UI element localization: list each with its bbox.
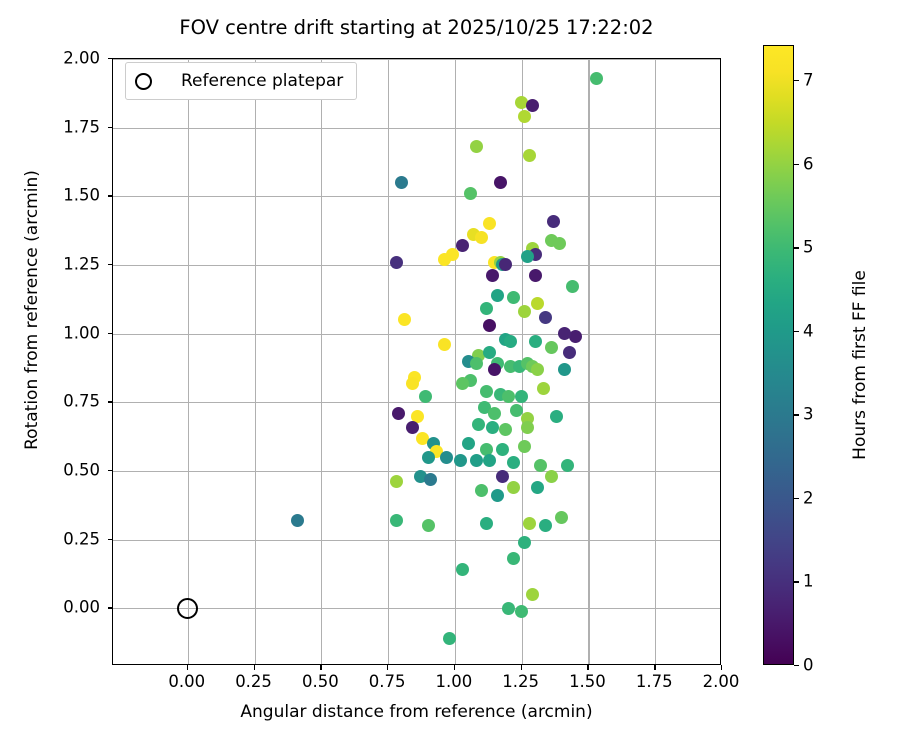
scatter-point xyxy=(398,313,411,326)
scatter-point xyxy=(550,410,563,423)
scatter-point xyxy=(537,382,550,395)
scatter-point xyxy=(438,253,451,266)
x-tick xyxy=(320,665,321,670)
scatter-point xyxy=(494,176,507,189)
scatter-point xyxy=(558,327,571,340)
scatter-point xyxy=(480,517,493,530)
x-tick xyxy=(254,665,255,670)
y-tick-label: 1.75 xyxy=(0,117,100,136)
scatter-point xyxy=(475,231,488,244)
scatter-point xyxy=(464,187,477,200)
y-tick xyxy=(108,58,113,59)
scatter-point xyxy=(483,454,496,467)
scatter-point xyxy=(523,149,536,162)
x-axis-label: Angular distance from reference (arcmin) xyxy=(112,702,721,722)
legend-label: Reference platepar xyxy=(181,71,343,91)
scatter-point xyxy=(502,602,515,615)
colorbar-tick-label: 4 xyxy=(803,321,814,340)
scatter-point xyxy=(531,297,544,310)
scatter-point xyxy=(521,250,534,263)
x-tick-label: 0.75 xyxy=(369,672,406,691)
colorbar-tick-label: 2 xyxy=(803,488,814,507)
y-tick-label: 0.25 xyxy=(0,529,100,548)
scatter-point xyxy=(529,335,542,348)
scatter-point xyxy=(553,237,566,250)
y-tick xyxy=(108,607,113,608)
scatter-point xyxy=(392,407,405,420)
scatter-point xyxy=(422,519,435,532)
scatter-point xyxy=(590,72,603,85)
scatter-point xyxy=(438,338,451,351)
colorbar-tick-label: 1 xyxy=(803,572,814,591)
x-tick-label: 1.75 xyxy=(636,672,673,691)
x-tick-label: 1.50 xyxy=(569,672,606,691)
reference-platepar-point xyxy=(177,598,198,619)
scatter-point xyxy=(456,377,469,390)
y-tick-label: 0.50 xyxy=(0,460,100,479)
colorbar-tick xyxy=(794,665,799,666)
scatter-point xyxy=(526,588,539,601)
x-tick xyxy=(454,665,455,670)
x-tick xyxy=(587,665,588,670)
scatter-point xyxy=(507,291,520,304)
scatter-point xyxy=(507,481,520,494)
colorbar-tick xyxy=(794,331,799,332)
scatter-point xyxy=(521,421,534,434)
scatter-point xyxy=(456,239,469,252)
scatter-point xyxy=(422,451,435,464)
x-tick xyxy=(387,665,388,670)
colorbar-tick-label: 5 xyxy=(803,238,814,257)
scatter-point xyxy=(488,407,501,420)
x-tick-label: 0.00 xyxy=(168,672,205,691)
scatter-point xyxy=(545,470,558,483)
x-tick-label: 0.50 xyxy=(302,672,339,691)
scatter-point xyxy=(488,363,501,376)
scatter-point xyxy=(518,305,531,318)
y-tick xyxy=(108,401,113,402)
scatter-point xyxy=(561,459,574,472)
scatter-point xyxy=(545,341,558,354)
scatter-point xyxy=(390,256,403,269)
gridline-horizontal xyxy=(113,402,720,403)
scatter-point xyxy=(486,269,499,282)
scatter-point xyxy=(491,289,504,302)
colorbar-tick xyxy=(794,80,799,81)
y-tick xyxy=(108,264,113,265)
gridline-vertical xyxy=(255,59,256,664)
gridline-horizontal xyxy=(113,334,720,335)
reference-platepar-marker-icon xyxy=(135,73,152,90)
scatter-point xyxy=(539,519,552,532)
scatter-point xyxy=(480,302,493,315)
gridline-vertical xyxy=(388,59,389,664)
scatter-point xyxy=(456,563,469,576)
plot-clip xyxy=(113,59,720,664)
y-tick-label: 1.00 xyxy=(0,323,100,342)
scatter-point xyxy=(496,443,509,456)
colorbar-tick xyxy=(794,581,799,582)
scatter-point xyxy=(480,385,493,398)
gridline-vertical xyxy=(321,59,322,664)
scatter-point xyxy=(555,511,568,524)
figure: FOV centre drift starting at 2025/10/25 … xyxy=(0,0,900,750)
y-tick-label: 0.00 xyxy=(0,598,100,617)
scatter-point xyxy=(483,319,496,332)
scatter-point xyxy=(518,110,531,123)
gridline-horizontal xyxy=(113,59,720,60)
scatter-point xyxy=(566,280,579,293)
colorbar-tick-label: 0 xyxy=(803,656,814,675)
scatter-point xyxy=(406,421,419,434)
colorbar-tick-label: 3 xyxy=(803,405,814,424)
legend: Reference platepar xyxy=(125,62,357,100)
scatter-point xyxy=(539,311,552,324)
scatter-point xyxy=(534,459,547,472)
scatter-point xyxy=(470,357,483,370)
gridline-horizontal xyxy=(113,608,720,609)
colorbar-tick-label: 7 xyxy=(803,71,814,90)
y-tick-label: 1.50 xyxy=(0,186,100,205)
scatter-point xyxy=(518,440,531,453)
y-tick xyxy=(108,333,113,334)
x-tick-label: 2.00 xyxy=(703,672,740,691)
scatter-point xyxy=(518,536,531,549)
scatter-point xyxy=(475,484,488,497)
colorbar-tick xyxy=(794,164,799,165)
gridline-horizontal xyxy=(113,196,720,197)
gridline-vertical xyxy=(655,59,656,664)
y-tick-label: 1.25 xyxy=(0,254,100,273)
x-tick xyxy=(654,665,655,670)
scatter-point xyxy=(529,269,542,282)
colorbar-tick xyxy=(794,247,799,248)
scatter-point xyxy=(291,514,304,527)
y-tick xyxy=(108,195,113,196)
scatter-point xyxy=(483,217,496,230)
y-tick-label: 0.75 xyxy=(0,392,100,411)
scatter-point xyxy=(443,632,456,645)
y-tick-label: 2.00 xyxy=(0,49,100,68)
scatter-point xyxy=(470,454,483,467)
gridline-horizontal xyxy=(113,540,720,541)
x-tick-label: 1.00 xyxy=(436,672,473,691)
scatter-point xyxy=(491,489,504,502)
x-tick xyxy=(721,665,722,670)
scatter-point xyxy=(504,335,517,348)
plot-area xyxy=(112,58,721,665)
scatter-point xyxy=(454,454,467,467)
x-tick-label: 0.25 xyxy=(235,672,272,691)
scatter-point xyxy=(440,451,453,464)
scatter-point xyxy=(395,176,408,189)
scatter-point xyxy=(507,552,520,565)
scatter-point xyxy=(563,346,576,359)
chart-title: FOV centre drift starting at 2025/10/25 … xyxy=(112,16,721,39)
gridline-horizontal xyxy=(113,128,720,129)
scatter-point xyxy=(472,418,485,431)
y-tick xyxy=(108,127,113,128)
scatter-point xyxy=(470,140,483,153)
scatter-point xyxy=(547,215,560,228)
scatter-point xyxy=(424,473,437,486)
scatter-point xyxy=(515,605,528,618)
scatter-point xyxy=(558,363,571,376)
scatter-point xyxy=(499,258,512,271)
colorbar-tick-label: 6 xyxy=(803,154,814,173)
scatter-point xyxy=(462,437,475,450)
colorbar-tick xyxy=(794,414,799,415)
scatter-point xyxy=(390,514,403,527)
y-tick xyxy=(108,539,113,540)
gridline-horizontal xyxy=(113,265,720,266)
gridline-vertical xyxy=(455,59,456,664)
colorbar-label: Hours from first FF file xyxy=(850,195,870,535)
scatter-point xyxy=(390,475,403,488)
scatter-point xyxy=(531,481,544,494)
x-tick xyxy=(521,665,522,670)
scatter-point xyxy=(523,517,536,530)
scatter-point xyxy=(486,421,499,434)
y-axis-label: Rotation from reference (arcmin) xyxy=(22,160,42,460)
x-tick-label: 1.25 xyxy=(502,672,539,691)
scatter-point xyxy=(499,423,512,436)
colorbar xyxy=(763,45,794,665)
y-tick xyxy=(108,470,113,471)
scatter-point xyxy=(406,377,419,390)
gridline-vertical xyxy=(188,59,189,664)
scatter-point xyxy=(496,470,509,483)
scatter-point xyxy=(531,363,544,376)
scatter-point xyxy=(507,456,520,469)
x-tick xyxy=(187,665,188,670)
colorbar-tick xyxy=(794,498,799,499)
gridline-vertical xyxy=(588,59,589,664)
